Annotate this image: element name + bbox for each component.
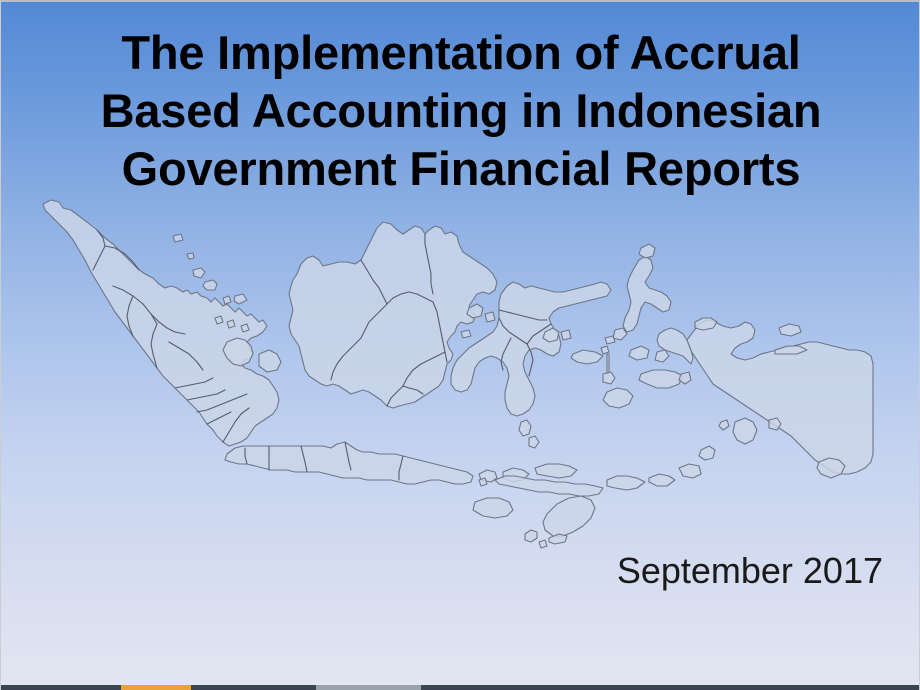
islands-lesser-sunda — [473, 464, 701, 548]
title-line-1: The Implementation of Accrual — [41, 24, 881, 82]
island-sulawesi — [451, 282, 611, 448]
title-line-2: Based Accounting in Indonesian — [41, 82, 881, 140]
date-text: September 2017 — [617, 551, 883, 591]
page-title: The Implementation of Accrual Based Acco… — [41, 24, 881, 198]
strip-segment-right — [421, 685, 920, 690]
island-kalimantan — [289, 222, 497, 408]
presentation-slide: The Implementation of Accrual Based Acco… — [0, 0, 920, 690]
island-sumatra — [43, 200, 279, 446]
title-line-3: Government Financial Reports — [41, 140, 881, 198]
viewer-bottom-strip[interactable] — [1, 685, 920, 690]
strip-segment-left — [1, 685, 121, 690]
strip-segment-grey — [316, 685, 421, 690]
island-papua — [657, 318, 873, 478]
strip-segment-accent[interactable] — [121, 685, 191, 690]
island-bangka-belitung — [223, 338, 281, 372]
island-java — [225, 442, 577, 484]
islands-maluku — [571, 244, 683, 408]
strip-segment-mid — [191, 685, 316, 690]
slide-date: September 2017 — [617, 551, 883, 591]
